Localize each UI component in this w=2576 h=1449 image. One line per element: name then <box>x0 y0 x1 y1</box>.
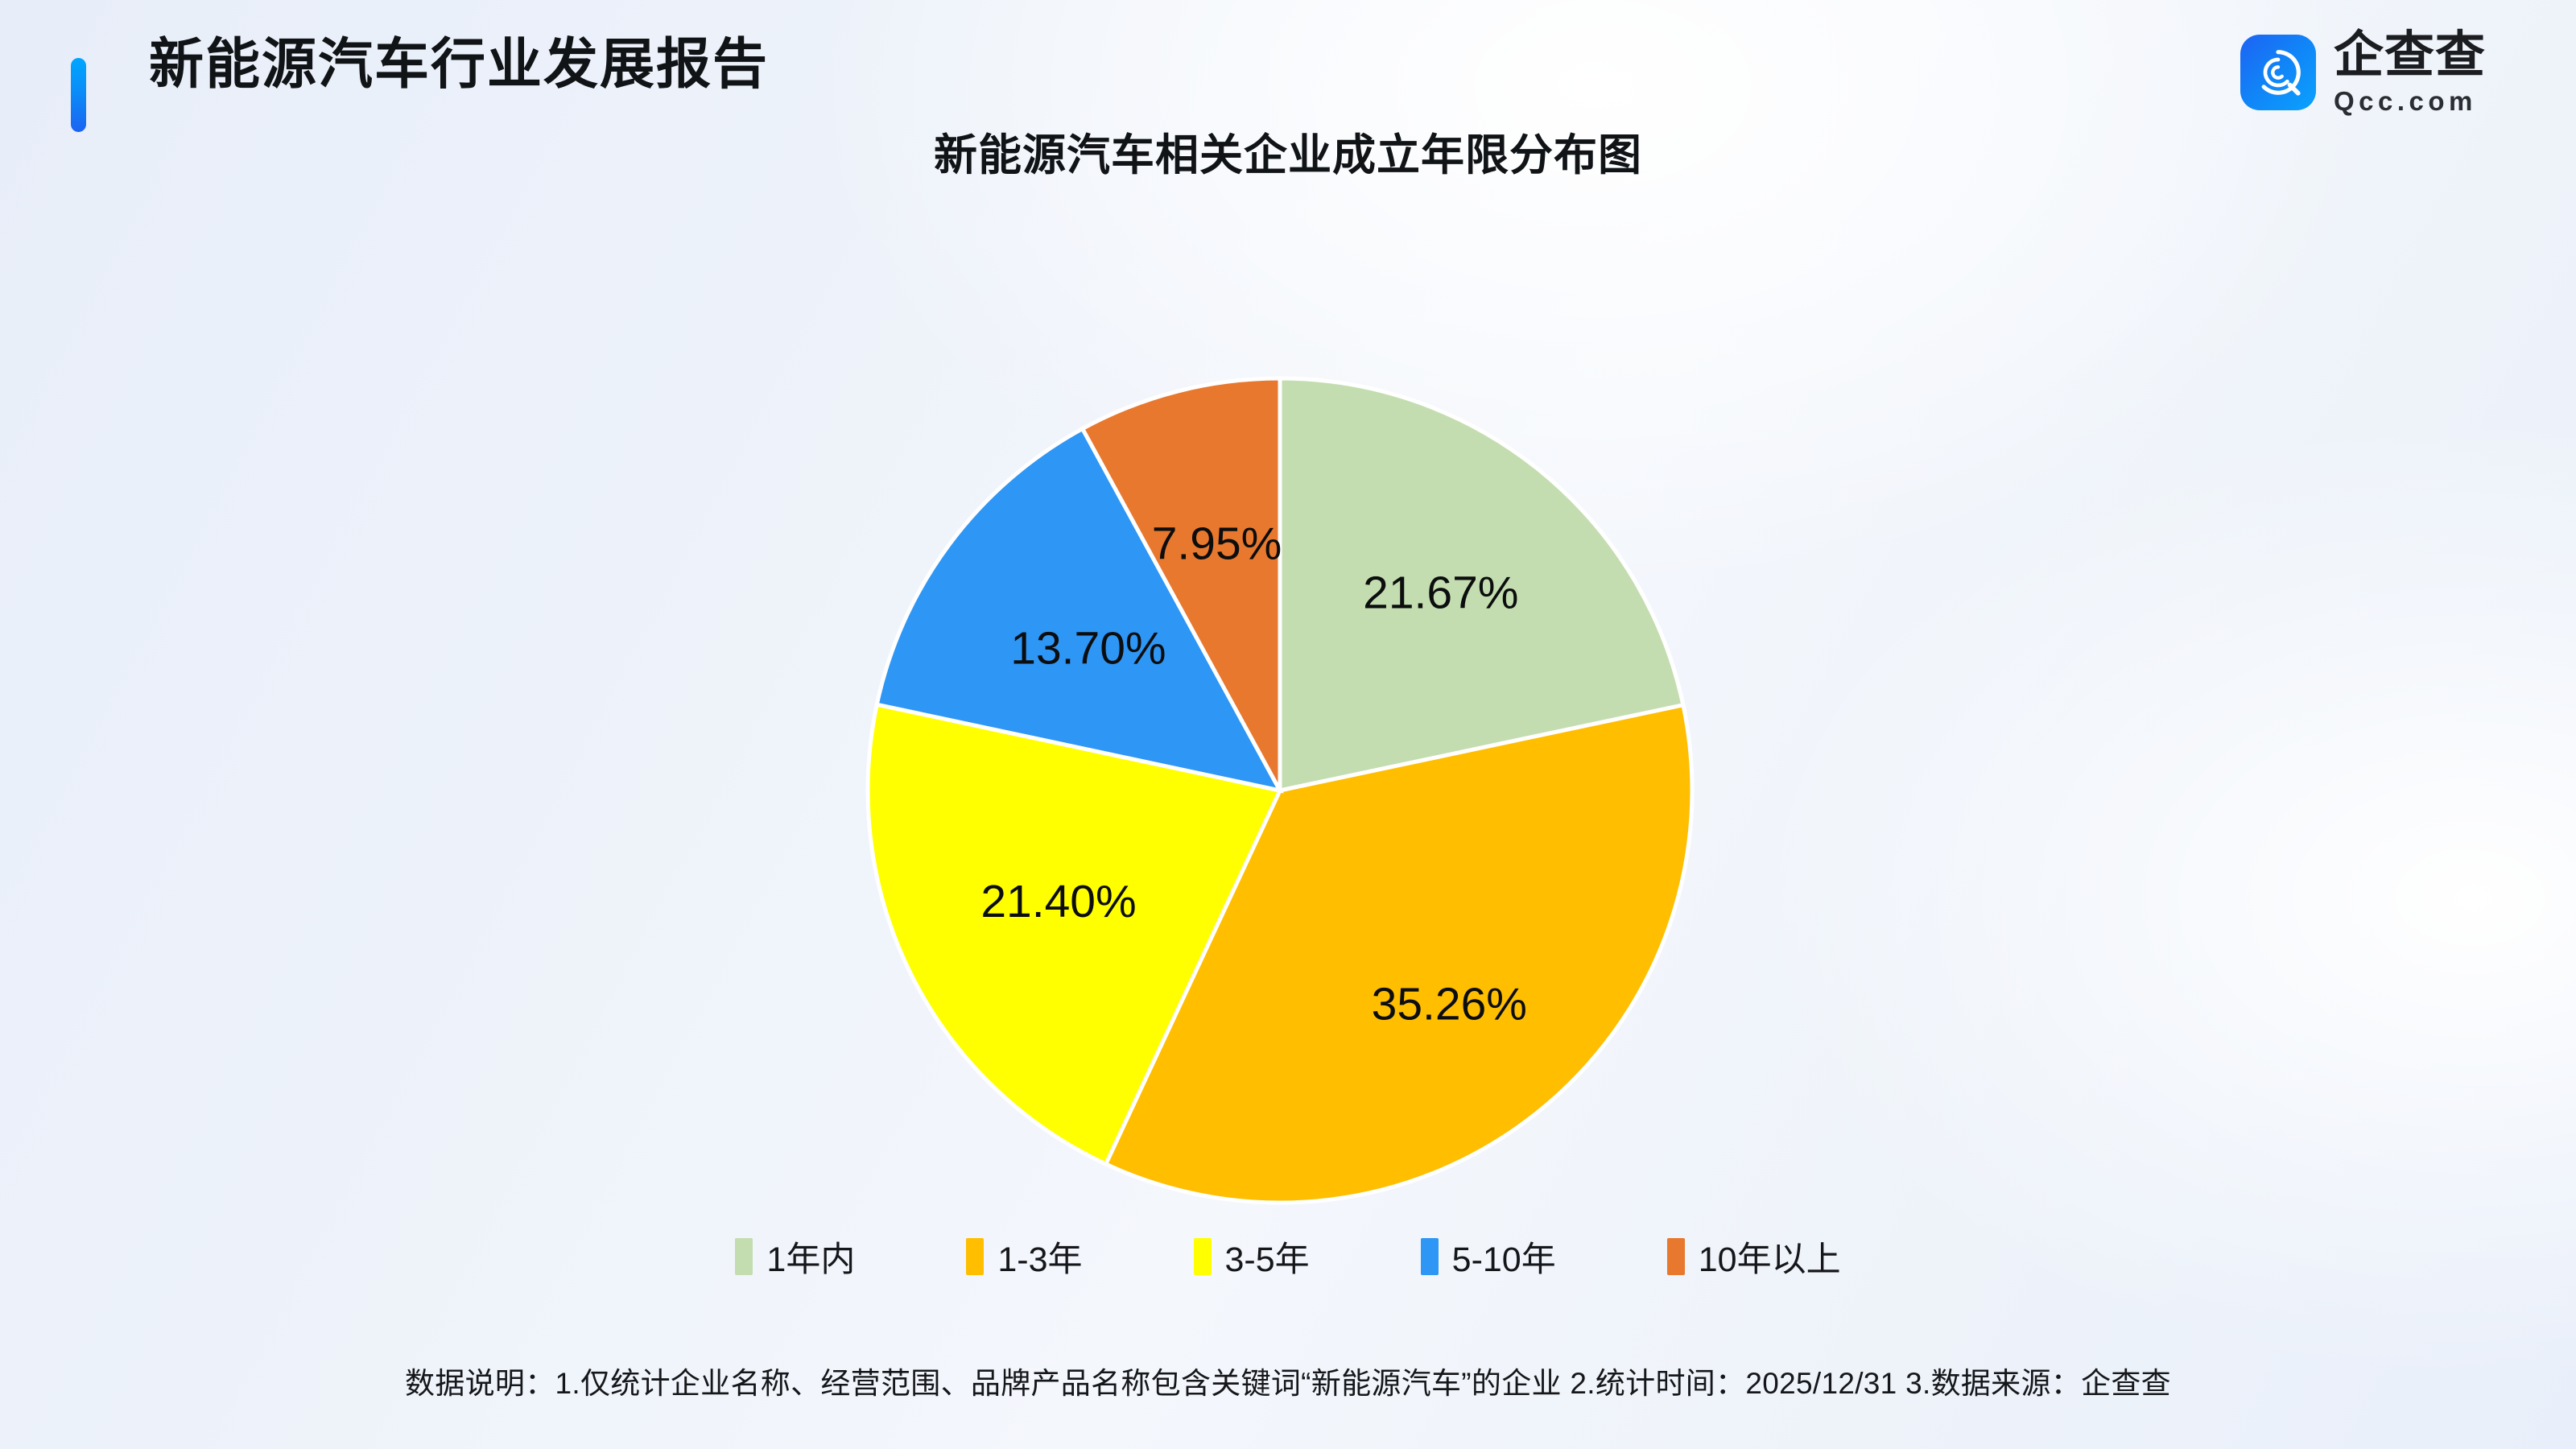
legend-item-1-3年[interactable]: 1-3年 <box>966 1232 1082 1282</box>
pie-slice-labels: 21.67%35.26%21.40%13.70%7.95% <box>980 518 1527 1030</box>
legend-swatch-icon <box>966 1238 984 1275</box>
pie-slice-3-5年[interactable] <box>868 704 1280 1164</box>
legend-item-1年内[interactable]: 1年内 <box>735 1232 855 1282</box>
legend-label: 10年以上 <box>1699 1232 1841 1282</box>
brand-name-cn: 企查查 <box>2334 31 2486 80</box>
brand-logo: 企查查 Qcc.com <box>2240 31 2486 114</box>
pie-chart-svg: 21.67%35.26%21.40%13.70%7.95% <box>837 348 1731 1241</box>
qcc-q-spiral-logo-icon <box>2240 35 2316 110</box>
legend-swatch-icon <box>1194 1238 1212 1275</box>
chart-title: 新能源汽车相关企业成立年限分布图 <box>0 119 2576 183</box>
footnote: 数据说明：1.仅统计企业名称、经营范围、品牌产品名称包含关键词“新能源汽车”的企… <box>0 1359 2576 1402</box>
page-title: 新能源汽车行业发展报告 <box>149 31 769 99</box>
legend-swatch-icon <box>735 1238 753 1275</box>
pie-slice-1年内[interactable] <box>1280 378 1683 791</box>
legend-swatch-icon <box>1667 1238 1685 1275</box>
pie-slice-5-10年[interactable] <box>877 429 1280 791</box>
brand-text: 企查查 Qcc.com <box>2334 31 2486 114</box>
pie-slice-1-3年[interactable] <box>1106 705 1692 1203</box>
pie-slice-10年以上[interactable] <box>1083 378 1280 791</box>
legend-label: 3-5年 <box>1225 1232 1310 1282</box>
pie-slice-label-10年以上: 7.95% <box>1152 518 1282 569</box>
legend-item-3-5年[interactable]: 3-5年 <box>1194 1232 1310 1282</box>
pie-slice-label-1-3年: 35.26% <box>1372 978 1527 1030</box>
pie-slices <box>868 378 1692 1203</box>
legend-swatch-icon <box>1421 1238 1439 1275</box>
legend-label: 1-3年 <box>997 1232 1082 1282</box>
legend-label: 1年内 <box>766 1232 855 1282</box>
pie-slice-label-5-10年: 13.70% <box>1010 622 1166 674</box>
chart-legend: 1年内1-3年3-5年5-10年10年以上 <box>0 1232 2576 1282</box>
pie-slice-label-1年内: 21.67% <box>1363 567 1518 618</box>
brand-name-en: Qcc.com <box>2334 88 2486 114</box>
legend-item-5-10年[interactable]: 5-10年 <box>1421 1232 1556 1282</box>
legend-item-10年以上[interactable]: 10年以上 <box>1667 1232 1841 1282</box>
legend-label: 5-10年 <box>1452 1232 1556 1282</box>
pie-slice-label-3-5年: 21.40% <box>980 876 1136 927</box>
